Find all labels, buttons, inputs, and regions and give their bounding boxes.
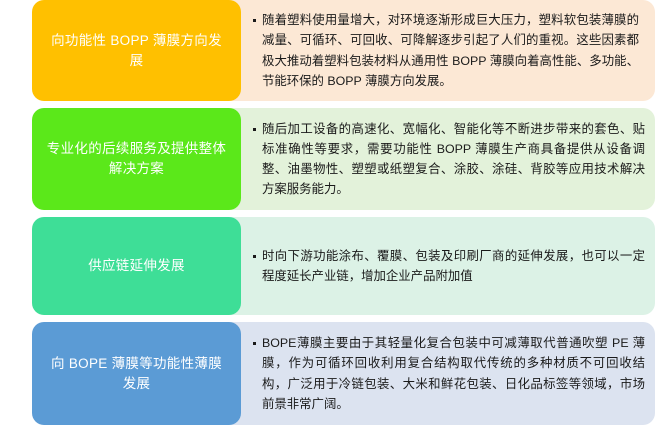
diagram-row-4: 向 BOPE 薄膜等功能性薄膜发展 BOPE薄膜主要由于其轻量化复合包装中可减薄… bbox=[0, 322, 660, 425]
row-4-label-text: 向 BOPE 薄膜等功能性薄膜发展 bbox=[46, 354, 227, 393]
row-2-label-block[interactable]: 专业化的后续服务及提供整体解决方案 bbox=[32, 108, 241, 210]
row-3-body-panel: 时向下游功能涂布、覆膜、包装及印刷厂商的延伸发展，也可以一定程度延长产业链，增加… bbox=[223, 217, 655, 315]
row-3-bullet-item: 时向下游功能涂布、覆膜、包装及印刷厂商的延伸发展，也可以一定程度延长产业链，增加… bbox=[251, 246, 645, 286]
row-4-bullet-list: BOPE薄膜主要由于其轻量化复合包装中可减薄取代普通吹塑 PE 薄膜，作为可循环… bbox=[251, 333, 645, 413]
row-2-body-panel: 随后加工设备的高速化、宽幅化、智能化等不断进步带来的套色、贴标准确性等要求，需要… bbox=[223, 108, 655, 210]
row-3-label-text: 供应链延伸发展 bbox=[46, 256, 227, 276]
row-1-body-panel: 随着塑料使用量增大，对环境逐渐形成巨大压力，塑料软包装薄膜的减量、可循环、可回收… bbox=[223, 0, 655, 101]
row-1-label-block[interactable]: 向功能性 BOPP 薄膜方向发展 bbox=[32, 0, 241, 101]
diagram-row-1: 向功能性 BOPP 薄膜方向发展 随着塑料使用量增大，对环境逐渐形成巨大压力，塑… bbox=[0, 0, 660, 101]
row-2-bullet-list: 随后加工设备的高速化、宽幅化、智能化等不断进步带来的套色、贴标准确性等要求，需要… bbox=[251, 119, 645, 199]
row-2-bullet-item: 随后加工设备的高速化、宽幅化、智能化等不断进步带来的套色、贴标准确性等要求，需要… bbox=[251, 119, 645, 199]
row-4-body-panel: BOPE薄膜主要由于其轻量化复合包装中可减薄取代普通吹塑 PE 薄膜，作为可循环… bbox=[223, 322, 655, 425]
row-3-bullet-list: 时向下游功能涂布、覆膜、包装及印刷厂商的延伸发展，也可以一定程度延长产业链，增加… bbox=[251, 246, 645, 286]
row-4-label-block[interactable]: 向 BOPE 薄膜等功能性薄膜发展 bbox=[32, 322, 241, 425]
row-2-label-text: 专业化的后续服务及提供整体解决方案 bbox=[46, 139, 227, 178]
diagram-row-3: 供应链延伸发展 时向下游功能涂布、覆膜、包装及印刷厂商的延伸发展，也可以一定程度… bbox=[0, 217, 660, 315]
row-3-label-block[interactable]: 供应链延伸发展 bbox=[32, 217, 241, 315]
diagram-row-2: 专业化的后续服务及提供整体解决方案 随后加工设备的高速化、宽幅化、智能化等不断进… bbox=[0, 108, 660, 210]
row-4-bullet-item: BOPE薄膜主要由于其轻量化复合包装中可减薄取代普通吹塑 PE 薄膜，作为可循环… bbox=[251, 333, 645, 413]
row-1-bullet-item: 随着塑料使用量增大，对环境逐渐形成巨大压力，塑料软包装薄膜的减量、可循环、可回收… bbox=[251, 10, 639, 90]
diagram-container: 向功能性 BOPP 薄膜方向发展 随着塑料使用量增大，对环境逐渐形成巨大压力，塑… bbox=[0, 0, 660, 426]
row-1-label-text: 向功能性 BOPP 薄膜方向发展 bbox=[46, 31, 227, 70]
row-1-bullet-list: 随着塑料使用量增大，对环境逐渐形成巨大压力，塑料软包装薄膜的减量、可循环、可回收… bbox=[251, 10, 645, 90]
